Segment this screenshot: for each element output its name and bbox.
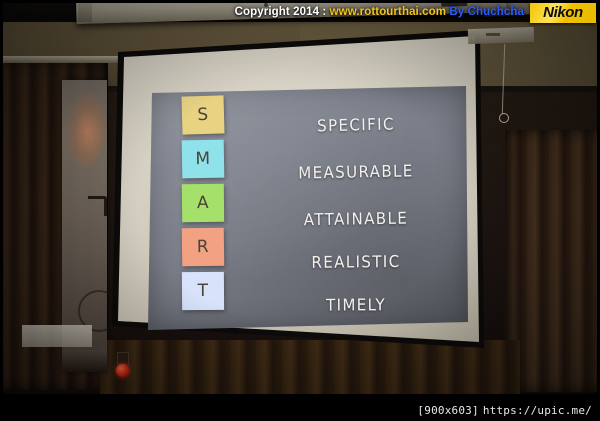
sticky-note-letter: T: [197, 281, 208, 301]
slide-word-specific: SPECIFIC: [256, 113, 456, 137]
slide-word-list: SPECIFIC MEASURABLE ATTAINABLE REALISTIC…: [256, 100, 456, 320]
roller-right-label: [486, 33, 500, 36]
wall-sign: [22, 325, 92, 347]
fire-alarm-icon: [116, 364, 129, 377]
sticky-note-m: M: [182, 140, 225, 179]
sticky-note-s: S: [181, 95, 224, 134]
banner-base: [62, 350, 107, 372]
bottom-watermark-bar: [900x603] https://upic.me/: [0, 400, 600, 421]
slide-word-timely: TIMELY: [256, 295, 456, 316]
sticky-note-letter: A: [197, 193, 209, 213]
letterbox-top: [0, 0, 600, 3]
roller-screw: [264, 3, 268, 7]
slide-word-attainable: ATTAINABLE: [256, 208, 456, 231]
screen-roller-housing-right: [468, 27, 534, 44]
curtain-rod-left: [0, 56, 118, 63]
slide-word-realistic: REALISTIC: [256, 251, 456, 273]
sticky-note-letter: S: [197, 105, 209, 125]
curtain-bottom: [100, 340, 520, 402]
upic-link[interactable]: https://upic.me/: [483, 404, 592, 417]
sticky-note-letter: R: [197, 237, 210, 257]
banner-logo-mark: [88, 196, 107, 216]
screen-pull-ring: [499, 113, 509, 123]
slide-word-measurable: MEASURABLE: [256, 160, 456, 183]
image-dimensions-label: [900x603]: [417, 404, 478, 417]
sticky-note-letter: M: [195, 149, 211, 169]
banner-graphic: [64, 88, 104, 168]
roller-end-cap: [78, 2, 92, 22]
sticky-note-t: T: [182, 272, 224, 310]
photo-scene: S M A R T SPECIFIC MEASURABLE ATTAINABLE…: [0, 0, 600, 421]
sticky-note-a: A: [182, 184, 224, 222]
sticky-note-column: S M A R T: [182, 96, 240, 318]
sticky-note-r: R: [182, 228, 225, 267]
letterbox-left: [0, 0, 3, 421]
